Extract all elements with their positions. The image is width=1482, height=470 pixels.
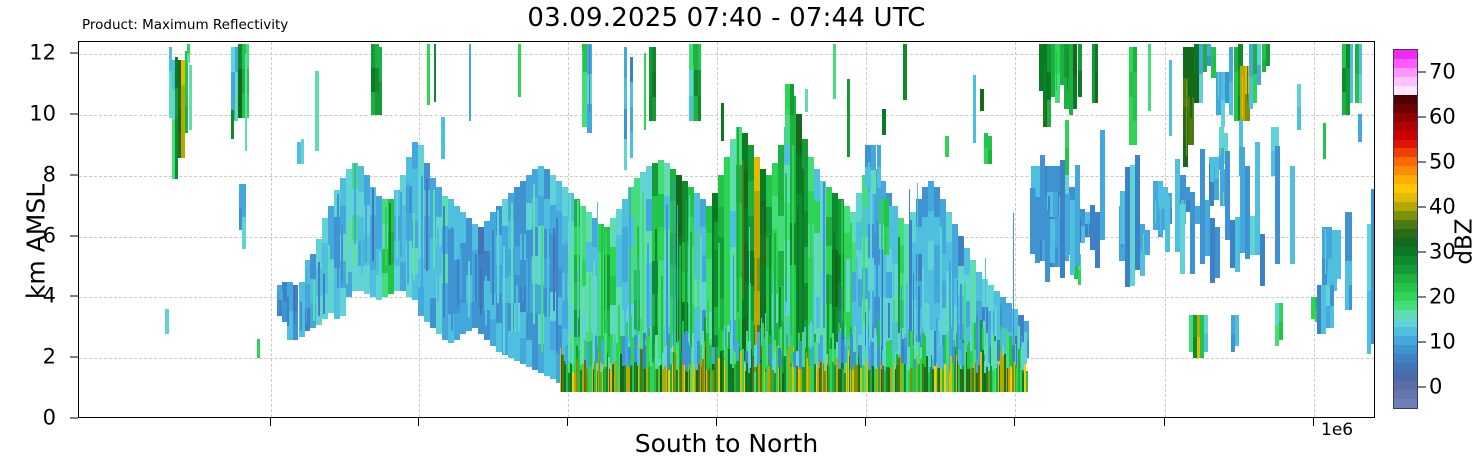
reflectivity-cell	[582, 51, 583, 111]
colorbar-band	[1394, 282, 1417, 291]
reflectivity-cell	[1235, 315, 1239, 331]
reflectivity-cell	[1204, 333, 1208, 352]
reflectivity-cell	[901, 286, 902, 346]
reflectivity-cell	[637, 258, 638, 346]
reflectivity-cell	[882, 216, 883, 247]
reflectivity-cell	[580, 206, 582, 340]
x-axis-tick-mark	[270, 418, 271, 426]
reflectivity-cell	[697, 341, 700, 364]
reflectivity-cell	[1337, 230, 1341, 255]
reflectivity-cell	[652, 72, 656, 97]
colorbar-band	[1394, 76, 1417, 85]
reflectivity-cell	[724, 360, 725, 392]
reflectivity-cell	[880, 363, 881, 392]
colorbar-band	[1394, 264, 1417, 273]
y-axis-tick-mark	[70, 418, 78, 419]
reflectivity-cell	[973, 75, 976, 143]
reflectivity-cell	[1221, 99, 1225, 127]
reflectivity-cell	[749, 227, 750, 346]
reflectivity-cell	[1215, 227, 1220, 278]
reflectivity-cell	[785, 301, 786, 347]
reflectivity-cell	[742, 160, 744, 300]
reflectivity-cell	[185, 78, 188, 106]
colorbar-band	[1394, 246, 1417, 255]
reflectivity-cell	[1374, 242, 1375, 273]
colorbar-tick-label: 40	[1429, 196, 1456, 217]
reflectivity-cell	[792, 121, 794, 339]
colorbar-tick-mark	[1418, 296, 1426, 297]
reflectivity-cell	[441, 117, 445, 158]
x-axis-offset-label: 1e6	[1321, 420, 1353, 440]
colorbar-band	[1394, 94, 1417, 103]
reflectivity-cell	[913, 273, 914, 346]
reflectivity-cell	[869, 310, 870, 346]
reflectivity-cell	[187, 44, 190, 54]
reflectivity-cell	[1056, 52, 1057, 90]
reflectivity-cell	[829, 349, 832, 366]
reflectivity-cell	[231, 110, 234, 139]
reflectivity-cell	[480, 267, 482, 315]
colorbar-tick-mark	[1418, 206, 1426, 207]
reflectivity-cell	[421, 176, 423, 306]
y-axis-tick-mark	[70, 174, 78, 175]
reflectivity-cell	[1186, 81, 1187, 156]
reflectivity-cell	[1229, 81, 1233, 115]
reflectivity-cell	[922, 267, 924, 333]
reflectivity-cell	[865, 312, 866, 346]
reflectivity-cell	[569, 194, 571, 321]
product-label: Product: Maximum Reflectivity	[82, 17, 288, 33]
reflectivity-cell	[1323, 123, 1326, 160]
reflectivity-cell	[1013, 213, 1014, 346]
reflectivity-cell	[1350, 44, 1353, 73]
reflectivity-cell	[670, 352, 673, 364]
reflectivity-cell	[878, 319, 880, 350]
reflectivity-cell	[630, 82, 633, 108]
reflectivity-cell	[1321, 303, 1322, 321]
reflectivity-cell	[379, 252, 381, 292]
colorbar-band	[1394, 327, 1417, 336]
reflectivity-cell	[903, 44, 907, 100]
reflectivity-cell	[826, 359, 827, 392]
colorbar-band	[1394, 300, 1417, 309]
reflectivity-cell	[427, 44, 430, 106]
reflectivity-cell	[434, 44, 436, 102]
colorbar-band	[1394, 381, 1417, 390]
reflectivity-cell	[518, 44, 521, 97]
colorbar	[1393, 49, 1418, 409]
x-axis-tick-mark	[567, 418, 568, 426]
reflectivity-cell	[988, 136, 992, 150]
reflectivity-cell	[354, 164, 356, 245]
reflectivity-cell	[1180, 204, 1185, 274]
reflectivity-cell	[846, 361, 847, 391]
reflectivity-cell	[553, 228, 555, 311]
reflectivity-cell	[1327, 227, 1328, 270]
reflectivity-cell	[1199, 73, 1203, 102]
reflectivity-cell	[1067, 51, 1068, 90]
reflectivity-cell	[916, 356, 917, 392]
reflectivity-cell	[736, 341, 739, 361]
reflectivity-cell	[565, 241, 567, 312]
reflectivity-cell	[762, 207, 764, 340]
reflectivity-cell	[1078, 269, 1081, 285]
reflectivity-cell	[1021, 336, 1022, 346]
reflectivity-cell	[688, 364, 689, 392]
reflectivity-cell	[737, 127, 739, 312]
reflectivity-cell	[323, 274, 325, 314]
reflectivity-cell	[665, 254, 666, 346]
reflectivity-cell	[457, 259, 459, 305]
reflectivity-cell	[1073, 76, 1077, 109]
colorbar-tick-label: 20	[1429, 286, 1456, 307]
colorbar-band	[1394, 130, 1417, 139]
reflectivity-cell	[379, 81, 382, 115]
reflectivity-cell	[301, 151, 304, 164]
reflectivity-cell	[877, 347, 880, 366]
reflectivity-cell	[961, 343, 964, 366]
y-axis-tick-mark	[70, 357, 78, 358]
reflectivity-cell	[577, 270, 578, 346]
reflectivity-cell	[1297, 84, 1301, 107]
reflectivity-cell	[689, 195, 690, 346]
reflectivity-cell	[315, 71, 319, 151]
reflectivity-cell	[694, 363, 695, 391]
reflectivity-cell	[885, 236, 886, 254]
reflectivity-cell	[785, 173, 787, 301]
reflectivity-cell	[988, 149, 992, 163]
reflectivity-cell	[816, 364, 817, 391]
reflectivity-cell	[845, 325, 846, 346]
colorbar-band	[1394, 103, 1417, 112]
reflectivity-cell	[1160, 195, 1161, 234]
reflectivity-cell	[1229, 47, 1233, 81]
colorbar-tick-mark	[1418, 386, 1426, 387]
colorbar-band	[1394, 67, 1417, 76]
reflectivity-cell	[589, 45, 590, 113]
reflectivity-cell	[655, 335, 658, 369]
reflectivity-cell	[1247, 66, 1248, 100]
reflectivity-cell	[282, 290, 283, 307]
reflectivity-cell	[1214, 167, 1215, 199]
colorbar-band	[1394, 390, 1417, 399]
reflectivity-cell	[528, 257, 530, 331]
reflectivity-cell	[1133, 47, 1137, 72]
reflectivity-cell	[725, 329, 726, 346]
reflectivity-cell	[940, 346, 943, 368]
reflectivity-cell	[698, 95, 701, 121]
reflectivity-cell	[764, 366, 765, 392]
reflectivity-cell	[492, 230, 494, 304]
reflectivity-cell	[898, 237, 900, 333]
reflectivity-cell	[1330, 306, 1334, 328]
reflectivity-cell	[1349, 212, 1352, 237]
reflectivity-cell	[909, 189, 910, 346]
reflectivity-cell	[1065, 148, 1069, 176]
reflectivity-cell	[1169, 60, 1172, 136]
colorbar-band	[1394, 309, 1417, 318]
reflectivity-cell	[1223, 192, 1224, 205]
y-axis-label: km AMSL	[24, 122, 49, 362]
reflectivity-cell	[1290, 166, 1295, 264]
reflectivity-cell	[396, 191, 398, 259]
reflectivity-cell	[769, 344, 772, 365]
reflectivity-cell	[608, 363, 609, 392]
reflectivity-cell	[652, 47, 656, 72]
colorbar-tick-mark	[1418, 116, 1426, 117]
reflectivity-cell	[649, 337, 652, 363]
x-axis-tick-mark	[716, 418, 717, 426]
colorbar-tick-label: 10	[1429, 331, 1456, 352]
reflectivity-cell	[1155, 201, 1156, 223]
reflectivity-cell	[652, 96, 656, 121]
reflectivity-cell	[365, 190, 367, 262]
reflectivity-cell	[1095, 44, 1098, 73]
colorbar-band	[1394, 399, 1417, 408]
reflectivity-cell	[889, 206, 893, 228]
reflectivity-cell	[522, 223, 524, 301]
colorbar-band	[1394, 318, 1417, 327]
reflectivity-cell	[433, 190, 435, 269]
reflectivity-cell	[744, 365, 745, 391]
reflectivity-cell	[389, 203, 391, 265]
reflectivity-cell	[597, 202, 598, 346]
reflectivity-cell	[946, 332, 949, 369]
reflectivity-cell	[637, 348, 640, 366]
reflectivity-cell	[1349, 260, 1352, 285]
reflectivity-cell	[1239, 120, 1243, 148]
colorbar-band	[1394, 202, 1417, 211]
reflectivity-cell	[361, 221, 363, 275]
reflectivity-cell	[700, 361, 701, 392]
reflectivity-cell	[645, 339, 646, 346]
reflectivity-cell	[877, 268, 878, 346]
colorbar-band	[1394, 228, 1417, 237]
colorbar-band	[1394, 363, 1417, 372]
reflectivity-cell	[863, 179, 865, 321]
reflectivity-cell	[511, 203, 513, 332]
reflectivity-cell	[624, 47, 627, 78]
reflectivity-cell	[1266, 44, 1270, 55]
x-axis-tick-mark	[1313, 418, 1314, 426]
colorbar-band	[1394, 345, 1417, 354]
reflectivity-cell	[294, 285, 295, 323]
reflectivity-cell	[306, 270, 307, 323]
reflectivity-cell	[871, 172, 872, 193]
reflectivity-cell	[1190, 78, 1192, 118]
reflectivity-cell	[1078, 44, 1082, 70]
reflectivity-cell	[841, 286, 842, 346]
reflectivity-cell	[624, 78, 627, 109]
reflectivity-cell	[848, 350, 849, 392]
reflectivity-cell	[1190, 192, 1195, 274]
y-axis-tick-mark	[70, 53, 78, 54]
colorbar-band	[1394, 58, 1417, 67]
reflectivity-cell	[833, 232, 835, 337]
reflectivity-cell	[1148, 44, 1151, 112]
reflectivity-cell	[278, 292, 279, 314]
reflectivity-cell	[698, 44, 701, 70]
reflectivity-cell	[1220, 127, 1221, 155]
reflectivity-cell	[712, 220, 714, 351]
reflectivity-cell	[655, 229, 657, 351]
reflectivity-cell	[1337, 254, 1341, 279]
reflectivity-cell	[318, 262, 320, 315]
reflectivity-cell	[516, 285, 518, 352]
reflectivity-cell	[601, 224, 603, 341]
reflectivity-cell	[805, 89, 808, 112]
colorbar-band	[1394, 193, 1417, 202]
reflectivity-cell	[503, 246, 505, 354]
reflectivity-cell	[1260, 234, 1265, 286]
reflectivity-cell	[426, 179, 428, 271]
reflectivity-cell	[602, 363, 603, 392]
reflectivity-cell	[571, 347, 574, 364]
reflectivity-cell	[1235, 330, 1239, 346]
reflectivity-cell	[765, 313, 766, 346]
reflectivity-cell	[257, 339, 260, 349]
reflectivity-cell	[945, 136, 949, 156]
reflectivity-cell	[1330, 285, 1334, 307]
reflectivity-cell	[469, 44, 471, 122]
reflectivity-cell	[300, 302, 302, 331]
reflectivity-cell	[997, 340, 1000, 361]
reflectivity-cell	[956, 355, 957, 391]
y-axis-tick-label: 0	[43, 408, 56, 429]
x-axis-tick-mark	[1014, 418, 1015, 426]
reflectivity-cell	[475, 254, 477, 302]
reflectivity-cell	[1078, 70, 1082, 96]
reflectivity-cell	[1358, 114, 1362, 142]
reflectivity-cell	[1100, 130, 1105, 240]
reflectivity-cell	[797, 206, 799, 331]
reflectivity-cell	[341, 225, 343, 283]
x-axis-tick-mark	[865, 418, 866, 426]
reflectivity-cell	[922, 333, 925, 364]
reflectivity-cell	[953, 330, 954, 346]
reflectivity-cell	[802, 332, 805, 367]
reflectivity-cell	[998, 360, 999, 392]
reflectivity-cell	[185, 105, 188, 133]
reflectivity-cell	[960, 284, 962, 340]
reflectivity-cell	[596, 365, 597, 392]
reflectivity-cell	[693, 65, 694, 121]
reflectivity-cell	[814, 342, 817, 364]
reflectivity-cell	[287, 297, 289, 327]
reflectivity-cell	[833, 44, 836, 99]
reflectivity-cell	[1165, 196, 1170, 252]
colorbar-tick-label: 50	[1429, 151, 1456, 172]
reflectivity-cell	[1374, 303, 1375, 334]
reflectivity-cell	[673, 180, 674, 346]
reflectivity-cell	[1140, 251, 1145, 276]
reflectivity-cell	[437, 228, 439, 301]
x-axis-label: South to North	[78, 429, 1375, 459]
reflectivity-cell	[1218, 72, 1219, 98]
colorbar-band	[1394, 354, 1417, 363]
plot-area	[78, 41, 1375, 418]
reflectivity-cell	[940, 313, 942, 346]
reflectivity-cell	[1374, 272, 1375, 303]
reflectivity-cell	[1275, 146, 1280, 264]
reflectivity-cell	[853, 352, 856, 365]
reflectivity-cell	[1209, 164, 1210, 196]
reflectivity-cell	[894, 363, 895, 392]
reflectivity-cell	[1257, 64, 1261, 84]
reflectivity-cell	[407, 182, 409, 284]
reflectivity-cell	[630, 57, 633, 83]
reflectivity-cell	[733, 255, 734, 346]
reflectivity-cell	[1349, 285, 1352, 310]
reflectivity-cell	[810, 205, 812, 303]
colorbar-band	[1394, 139, 1417, 148]
reflectivity-cell	[1266, 55, 1270, 66]
reflectivity-cell	[328, 245, 330, 277]
colorbar-band	[1394, 220, 1417, 229]
reflectivity-cell	[1047, 99, 1051, 127]
reflectivity-cell	[1279, 321, 1283, 340]
reflectivity-cell	[560, 348, 561, 391]
reflectivity-cell	[1044, 64, 1045, 121]
reflectivity-cell	[928, 350, 931, 368]
reflectivity-cell	[973, 350, 976, 363]
reflectivity-cell	[985, 258, 986, 347]
reflectivity-cell	[889, 227, 893, 249]
reflectivity-cell	[778, 348, 781, 368]
reflectivity-cell	[889, 340, 892, 368]
colorbar-tick-label: 60	[1429, 106, 1456, 127]
reflectivity-cell	[678, 366, 679, 391]
reflectivity-cell	[690, 232, 692, 353]
colorbar-band	[1394, 291, 1417, 300]
colorbar-band	[1394, 184, 1417, 193]
colorbar-band	[1394, 148, 1417, 157]
y-axis-tick-mark	[70, 113, 78, 114]
reflectivity-cell	[1371, 189, 1375, 344]
reflectivity-cell	[301, 139, 304, 152]
colorbar-band	[1394, 237, 1417, 246]
reflectivity-cell	[1088, 220, 1089, 236]
reflectivity-cell	[379, 47, 382, 81]
reflectivity-cell	[337, 194, 339, 287]
reflectivity-cell	[766, 331, 768, 364]
reflectivity-cell	[977, 329, 978, 346]
reflectivity-cell	[1133, 96, 1137, 121]
reflectivity-cell	[556, 218, 558, 351]
x-axis-tick-mark	[1164, 418, 1165, 426]
reflectivity-cell	[948, 366, 949, 392]
reflectivity-cell	[1257, 44, 1261, 64]
reflectivity-cell	[769, 236, 771, 335]
reflectivity-cell	[565, 345, 568, 364]
reflectivity-cell	[757, 332, 760, 364]
colorbar-band	[1394, 112, 1417, 121]
reflectivity-cell	[818, 361, 819, 391]
reflectivity-cell	[1095, 73, 1098, 102]
reflectivity-cell	[189, 65, 192, 130]
reflectivity-cell	[823, 182, 825, 328]
reflectivity-cell	[712, 347, 715, 364]
reflectivity-cell	[1075, 165, 1080, 266]
reflectivity-cell	[443, 206, 445, 318]
reflectivity-cell	[1024, 332, 1027, 364]
reflectivity-cell	[905, 334, 906, 346]
reflectivity-cell	[1242, 74, 1243, 118]
reflectivity-cell	[1188, 120, 1194, 145]
colorbar-tick-mark	[1418, 161, 1426, 162]
reflectivity-cell	[630, 132, 633, 158]
reflectivity-cell	[547, 212, 549, 337]
